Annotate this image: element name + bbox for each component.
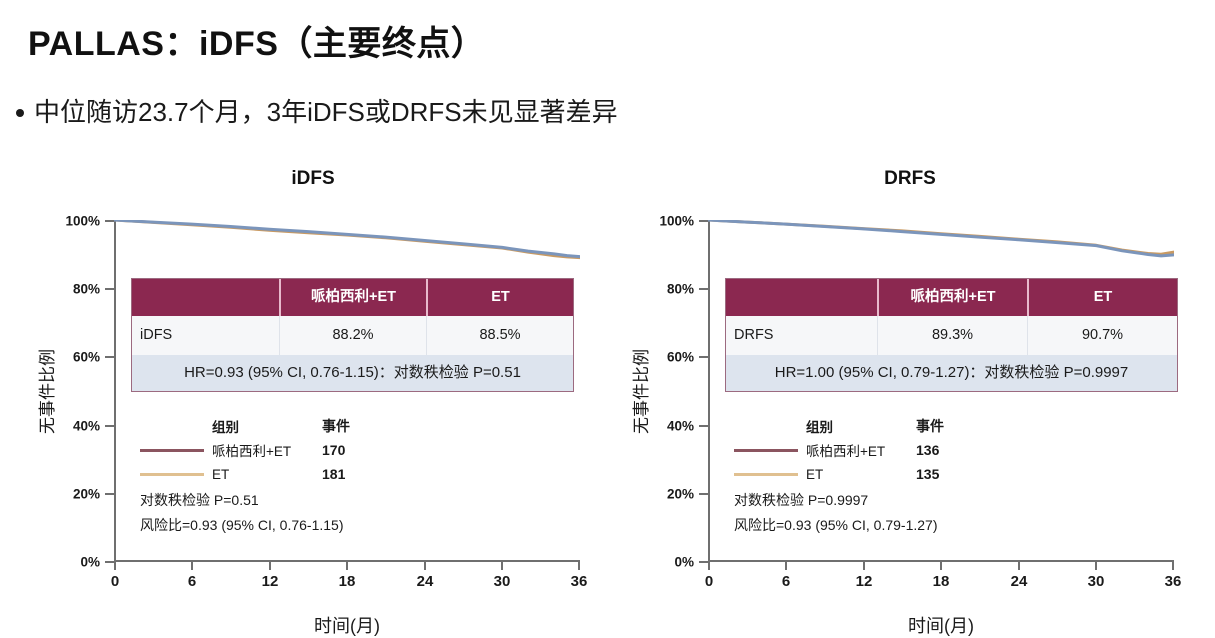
x-tick-label-12: 12 [262, 573, 279, 590]
x-tick-6 [785, 562, 787, 570]
slide-root: PALLAS：iDFS（主要终点） 中位随访23.7个月，3年iDFS或DRFS… [0, 0, 1215, 626]
table-header-cell-1: 哌柏西利+ET [279, 279, 426, 316]
x-tick-0 [114, 562, 116, 570]
x-axis-title-idfs: 时间(月) [114, 612, 580, 638]
table-cell-label: iDFS [132, 316, 279, 355]
y-tick-0 [699, 561, 708, 563]
y-axis-title-text: 无事件比例 [33, 349, 58, 434]
legend-col-group: 组别 [806, 416, 916, 436]
table-cell-palbo: 88.2% [279, 316, 426, 355]
legend-drfs: 组别 事件 哌柏西利+ET 136 ET 135 对数秩检验 P=0.9997 … [734, 416, 976, 540]
legend-label-palbo: 哌柏西利+ET [212, 440, 322, 460]
chart-title-drfs: DRFS [612, 168, 1208, 190]
y-tick-40 [105, 425, 114, 427]
legend-col-events: 事件 [322, 416, 382, 436]
y-axis-title-text: 无事件比例 [627, 349, 652, 434]
bullet-dot-icon [16, 109, 24, 117]
legend-item: ET 181 [140, 466, 382, 482]
x-tick-label-30: 30 [494, 573, 511, 590]
legend-stat-hr: 风险比=0.93 (95% CI, 0.76-1.15) [140, 515, 382, 535]
table-header-cell-2: ET [1027, 279, 1177, 316]
legend-stats: 对数秩检验 P=0.51 风险比=0.93 (95% CI, 0.76-1.15… [140, 490, 382, 535]
table-header-cell-1: 哌柏西利+ET [877, 279, 1027, 316]
x-tick-24 [424, 562, 426, 570]
x-tick-18 [346, 562, 348, 570]
bullet-text: 中位随访23.7个月，3年iDFS或DRFS未见显著差异 [34, 96, 618, 129]
x-tick-30 [1095, 562, 1097, 570]
legend-col-events: 事件 [916, 416, 976, 436]
table-header-cell-0 [726, 279, 877, 316]
curve-series-1 [708, 220, 1174, 256]
x-tick-label-24: 24 [417, 573, 434, 590]
table-header-cell-2: ET [426, 279, 573, 316]
legend-header: 组别 事件 [734, 416, 976, 436]
legend-stat-logrank: 对数秩检验 P=0.9997 [734, 490, 976, 510]
x-tick-24 [1018, 562, 1020, 570]
curve-series-0 [114, 220, 580, 258]
y-tick-100 [699, 220, 708, 222]
y-tick-20 [105, 493, 114, 495]
table-cell-et: 90.7% [1027, 316, 1177, 355]
y-tick-label-40: 40% [667, 419, 694, 434]
x-tick-label-0: 0 [705, 573, 713, 590]
y-tick-label-100: 100% [65, 214, 100, 229]
x-tick-36 [1172, 562, 1174, 570]
table-cell-palbo: 89.3% [877, 316, 1027, 355]
table-header-row: 哌柏西利+ET ET [726, 279, 1177, 316]
legend-item: ET 135 [734, 466, 976, 482]
table-row: iDFS 88.2% 88.5% [132, 316, 573, 355]
page-title: PALLAS：iDFS（主要终点） [28, 16, 485, 65]
table-note-hr: HR=1.00 (95% CI, 0.79-1.27)：对数秩检验 P=0.99… [726, 355, 1177, 391]
bullet-line: 中位随访23.7个月，3年iDFS或DRFS未见显著差异 [16, 96, 618, 129]
legend-events-palbo: 136 [916, 442, 976, 458]
y-tick-label-100: 100% [659, 214, 694, 229]
table-header-row: 哌柏西利+ET ET [132, 279, 573, 316]
x-tick-12 [269, 562, 271, 570]
x-tick-12 [863, 562, 865, 570]
y-tick-label-0: 0% [80, 555, 100, 570]
legend-stats: 对数秩检验 P=0.9997 风险比=0.93 (95% CI, 0.79-1.… [734, 490, 976, 535]
y-tick-100 [105, 220, 114, 222]
result-table-drfs: 哌柏西利+ET ET DRFS 89.3% 90.7% HR=1.00 (95%… [725, 278, 1178, 392]
y-tick-20 [699, 493, 708, 495]
y-tick-label-80: 80% [73, 282, 100, 297]
x-tick-label-36: 36 [1165, 573, 1182, 590]
legend-events-et: 135 [916, 466, 976, 482]
y-axis-title-drfs: 无事件比例 [626, 220, 652, 562]
legend-item: 哌柏西利+ET 136 [734, 440, 976, 460]
legend-stat-logrank: 对数秩检验 P=0.51 [140, 490, 382, 510]
chart-title-idfs: iDFS [18, 168, 608, 190]
x-axis-title-drfs: 时间(月) [708, 612, 1174, 638]
legend-swatch-et [734, 473, 798, 476]
x-tick-label-36: 36 [571, 573, 588, 590]
table-row: DRFS 89.3% 90.7% [726, 316, 1177, 355]
legend-swatch-palbo [734, 449, 798, 452]
chart-panel-drfs: DRFS 无事件比例 100% 80% 60% 40% 20% 0% [612, 168, 1208, 618]
x-tick-label-24: 24 [1011, 573, 1028, 590]
legend-label-et: ET [212, 467, 322, 482]
x-tick-label-0: 0 [111, 573, 119, 590]
y-tick-80 [105, 288, 114, 290]
legend-col-group: 组别 [212, 416, 322, 436]
y-tick-label-60: 60% [73, 350, 100, 365]
x-tick-0 [708, 562, 710, 570]
x-tick-label-18: 18 [933, 573, 950, 590]
table-cell-label: DRFS [726, 316, 877, 355]
legend-item: 哌柏西利+ET 170 [140, 440, 382, 460]
x-tick-label-12: 12 [856, 573, 873, 590]
legend-header: 组别 事件 [140, 416, 382, 436]
x-tick-18 [940, 562, 942, 570]
y-tick-60 [699, 356, 708, 358]
legend-swatch-et [140, 473, 204, 476]
legend-events-palbo: 170 [322, 442, 382, 458]
legend-label-et: ET [806, 467, 916, 482]
legend-idfs: 组别 事件 哌柏西利+ET 170 ET 181 对数秩检验 P=0.51 风险… [140, 416, 382, 540]
legend-events-et: 181 [322, 466, 382, 482]
x-tick-label-6: 6 [782, 573, 790, 590]
y-tick-80 [699, 288, 708, 290]
x-tick-label-6: 6 [188, 573, 196, 590]
table-cell-et: 88.5% [426, 316, 573, 355]
x-tick-label-18: 18 [339, 573, 356, 590]
table-note-hr: HR=0.93 (95% CI, 0.76-1.15)：对数秩检验 P=0.51 [132, 355, 573, 391]
legend-swatch-palbo [140, 449, 204, 452]
y-tick-40 [699, 425, 708, 427]
y-axis-title-idfs: 无事件比例 [32, 220, 58, 562]
x-tick-30 [501, 562, 503, 570]
y-tick-label-20: 20% [667, 487, 694, 502]
y-tick-label-20: 20% [73, 487, 100, 502]
y-tick-60 [105, 356, 114, 358]
y-tick-label-0: 0% [674, 555, 694, 570]
y-tick-label-40: 40% [73, 419, 100, 434]
x-tick-label-30: 30 [1088, 573, 1105, 590]
x-tick-6 [191, 562, 193, 570]
legend-label-palbo: 哌柏西利+ET [806, 440, 916, 460]
y-tick-label-60: 60% [667, 350, 694, 365]
y-tick-0 [105, 561, 114, 563]
legend-stat-hr: 风险比=0.93 (95% CI, 0.79-1.27) [734, 515, 976, 535]
chart-panel-idfs: iDFS 无事件比例 100% 80% 60% 40% 20% 0% [18, 168, 608, 618]
x-tick-36 [578, 562, 580, 570]
result-table-idfs: 哌柏西利+ET ET iDFS 88.2% 88.5% HR=0.93 (95%… [131, 278, 574, 392]
y-tick-label-80: 80% [667, 282, 694, 297]
table-header-cell-0 [132, 279, 279, 316]
